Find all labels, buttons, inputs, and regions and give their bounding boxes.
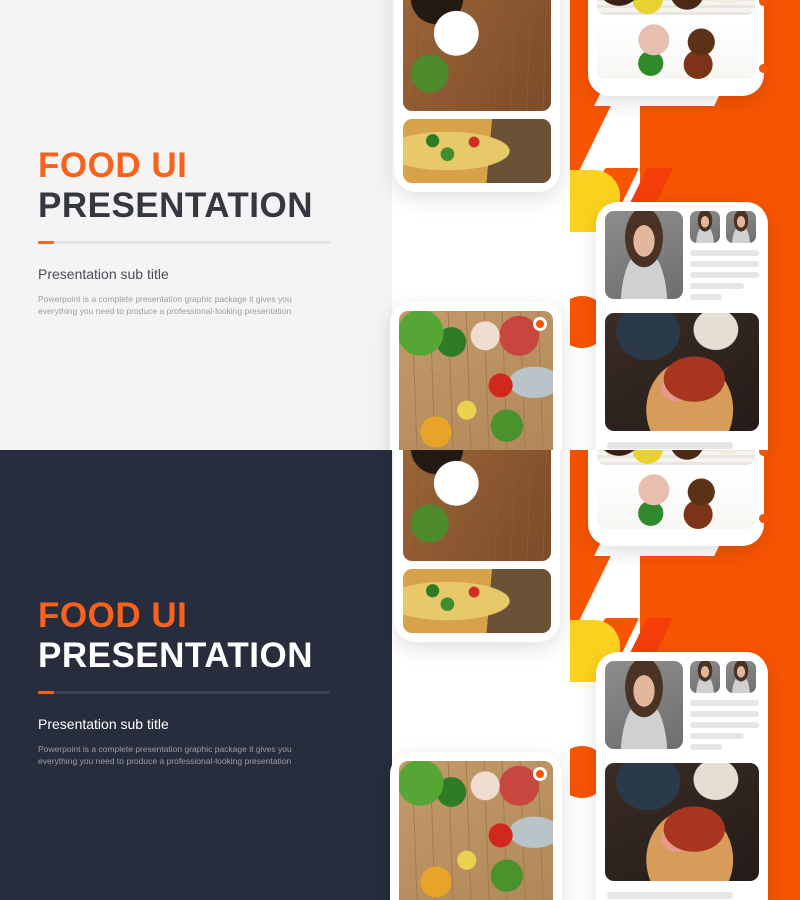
right-card-top[interactable] xyxy=(588,450,764,546)
page-subtitle: Presentation sub title xyxy=(38,716,338,732)
woman-portrait-photo[interactable] xyxy=(605,211,683,299)
record-dot-icon xyxy=(533,317,547,331)
tea-herbs-photo[interactable] xyxy=(597,473,755,529)
right-card-profile[interactable] xyxy=(596,652,768,900)
text-placeholder-bar xyxy=(690,250,759,256)
grilled-steak-board-photo[interactable] xyxy=(605,313,759,431)
steak-plate-photo[interactable] xyxy=(403,0,551,111)
text-placeholder-bar xyxy=(690,294,722,300)
text-placeholder-bar xyxy=(690,722,759,728)
right-card-top[interactable] xyxy=(588,0,764,96)
text-placeholder-bar xyxy=(690,261,759,267)
profile-details xyxy=(690,211,759,305)
profile-header-row xyxy=(605,211,759,305)
pizza-photo[interactable] xyxy=(403,119,551,183)
text-placeholder-bar xyxy=(690,283,744,289)
donuts-photo[interactable] xyxy=(597,0,755,15)
page-title-line2: PRESENTATION xyxy=(38,187,338,225)
man-portrait-photo[interactable] xyxy=(726,211,756,243)
avatar-group xyxy=(690,661,759,693)
man-portrait-photo[interactable] xyxy=(726,661,756,693)
card-side-dot-icon-3 xyxy=(759,514,768,523)
profile-footer-bars xyxy=(605,889,759,900)
text-placeholder-bar xyxy=(690,733,744,739)
text-placeholder-bar xyxy=(690,700,759,706)
page-body-copy: Powerpoint is a complete presentation gr… xyxy=(38,743,324,768)
slide-light: FOOD UI PRESENTATION Presentation sub ti… xyxy=(0,0,800,450)
title-divider xyxy=(38,241,330,244)
middle-card-bottom[interactable] xyxy=(390,302,562,450)
record-dot-icon xyxy=(533,767,547,781)
page-title-line1: FOOD UI xyxy=(38,148,338,183)
page-title-line1: FOOD UI xyxy=(38,598,338,633)
right-card-profile[interactable] xyxy=(596,202,768,450)
slide-light-text-block: FOOD UI PRESENTATION Presentation sub ti… xyxy=(38,148,338,317)
vegetables-photo[interactable] xyxy=(399,761,553,900)
tea-herbs-photo[interactable] xyxy=(597,23,755,79)
middle-card-bottom[interactable] xyxy=(390,752,562,900)
page-subtitle: Presentation sub title xyxy=(38,266,338,282)
text-placeholder-bar xyxy=(690,744,722,750)
steak-plate-photo[interactable] xyxy=(403,450,551,561)
text-placeholder-bar xyxy=(607,892,733,899)
profile-details xyxy=(690,661,759,755)
profile-footer-bars xyxy=(605,439,759,450)
woman-portrait-photo[interactable] xyxy=(605,661,683,749)
text-placeholder-bar xyxy=(690,272,759,278)
man-glasses-portrait-photo[interactable] xyxy=(690,211,720,243)
text-placeholder-bar xyxy=(607,442,733,449)
man-glasses-portrait-photo[interactable] xyxy=(690,661,720,693)
slide-dark-text-block: FOOD UI PRESENTATION Presentation sub ti… xyxy=(38,598,338,767)
vegetables-photo[interactable] xyxy=(399,311,553,450)
title-divider xyxy=(38,691,330,694)
page-title-line2: PRESENTATION xyxy=(38,637,338,675)
text-placeholder-bar xyxy=(690,711,759,717)
pizza-photo[interactable] xyxy=(403,569,551,633)
page-body-copy: Powerpoint is a complete presentation gr… xyxy=(38,293,324,318)
avatar-group xyxy=(690,211,759,243)
donuts-photo[interactable] xyxy=(597,450,755,465)
middle-card-top[interactable] xyxy=(394,0,560,192)
profile-header-row xyxy=(605,661,759,755)
grilled-steak-board-photo[interactable] xyxy=(605,763,759,881)
middle-card-top[interactable] xyxy=(394,450,560,642)
card-side-dot-icon-3 xyxy=(759,64,768,73)
slide-dark: FOOD UI PRESENTATION Presentation sub ti… xyxy=(0,450,800,900)
